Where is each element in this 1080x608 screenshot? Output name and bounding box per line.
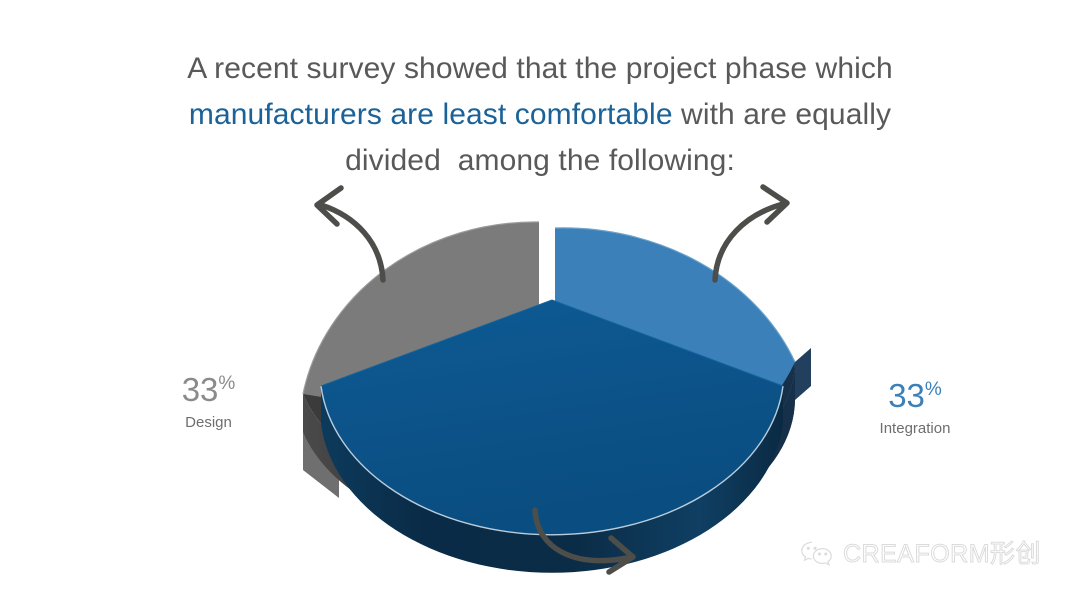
percent-symbol: % — [218, 373, 235, 394]
title-line-2-rest: with are equally — [673, 98, 891, 131]
pie-chart-svg — [255, 180, 835, 580]
callout-integration-percent: 33% — [840, 378, 990, 414]
wechat-icon — [800, 540, 834, 568]
watermark: CREAFORM形创 — [800, 540, 1041, 568]
page-title: A recent survey showed that the project … — [0, 46, 1080, 184]
slide-canvas: A recent survey showed that the project … — [0, 0, 1080, 608]
callout-integration: 33% Integration — [840, 378, 990, 440]
title-line-1: A recent survey showed that the project … — [0, 46, 1080, 92]
title-line-2: manufacturers are least comfortable with… — [0, 92, 1080, 138]
title-line-3: divided among the following: — [0, 138, 1080, 184]
callout-design-percent: 33% — [146, 372, 271, 408]
callout-integration-value: 33 — [888, 377, 925, 414]
callout-design: 33% Design — [146, 372, 271, 434]
slice-integration-cut-face — [795, 348, 811, 400]
watermark-text: CREAFORM形创 — [843, 540, 1041, 568]
callout-integration-label: Integration — [840, 418, 990, 440]
callout-design-label: Design — [146, 412, 271, 434]
title-highlight: manufacturers are least comfortable — [189, 98, 673, 131]
callout-design-value: 33 — [182, 371, 219, 408]
percent-symbol: % — [925, 379, 942, 400]
